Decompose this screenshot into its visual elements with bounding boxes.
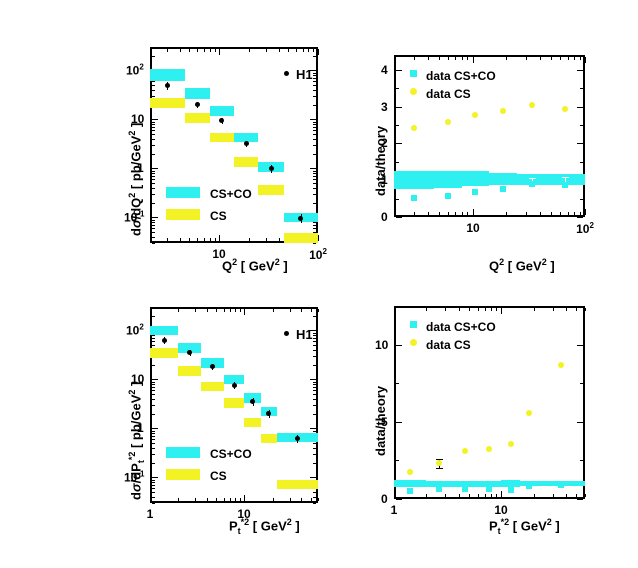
x-minor-tick bbox=[394, 491, 395, 497]
x-minor-tick bbox=[224, 309, 225, 312]
x-minor-tick bbox=[566, 308, 567, 311]
x-minor-tick bbox=[580, 57, 581, 60]
plot-frame-pt2-ratio bbox=[394, 306, 585, 499]
x-minor-tick bbox=[210, 238, 211, 241]
y-minor-tick bbox=[313, 492, 316, 493]
theory-band-cs bbox=[244, 418, 261, 428]
x-minor-tick bbox=[576, 308, 577, 311]
y-minor-tick bbox=[152, 168, 158, 169]
theory-band-csco bbox=[150, 326, 178, 335]
y-minor-tick bbox=[313, 228, 316, 229]
x-minor-tick bbox=[150, 495, 151, 501]
y-minor-tick bbox=[152, 228, 155, 229]
x-minor-tick bbox=[469, 308, 470, 311]
y-minor-tick bbox=[152, 176, 155, 177]
x-minor-tick bbox=[526, 212, 527, 215]
y-minor-tick bbox=[313, 127, 316, 128]
y-minor-tick bbox=[152, 436, 155, 437]
y-minor-tick bbox=[313, 394, 316, 395]
y-minor-tick bbox=[313, 316, 316, 317]
y-minor-tick bbox=[313, 365, 316, 366]
x-minor-tick bbox=[445, 308, 446, 311]
x-minor-tick bbox=[462, 212, 463, 215]
legend-swatch-csco bbox=[166, 187, 200, 198]
y-minor-tick bbox=[313, 171, 316, 172]
y-minor-tick bbox=[152, 130, 155, 131]
ratio-point-csco bbox=[562, 182, 568, 188]
x-minor-tick bbox=[485, 494, 486, 497]
y-minor-tick bbox=[152, 127, 155, 128]
y-minor-tick bbox=[313, 431, 316, 432]
x-minor-tick bbox=[318, 235, 319, 241]
y-minor-tick bbox=[313, 222, 316, 223]
legend-swatch-csco bbox=[166, 447, 200, 458]
x-minor-tick bbox=[526, 57, 527, 60]
theory-band-cs bbox=[258, 185, 283, 194]
y-minor-tick bbox=[313, 335, 316, 336]
y-minor-tick bbox=[310, 379, 316, 380]
x-minor-tick bbox=[496, 308, 497, 311]
y-minor-tick bbox=[313, 387, 316, 388]
x-axis-title-q2-ratio: Q2 [ GeV2 ] bbox=[489, 258, 555, 272]
x-minor-tick bbox=[473, 57, 474, 63]
y-minor-tick bbox=[152, 124, 155, 125]
y-minor-tick bbox=[313, 124, 316, 125]
legend-label-data-csco: data CS+CO bbox=[426, 321, 496, 333]
legend-label-cs: CS bbox=[210, 470, 227, 482]
y-minor-tick bbox=[152, 222, 155, 223]
theory-band-cs bbox=[224, 398, 245, 408]
x-minor-tick bbox=[313, 49, 314, 52]
y-tick-label: 1 bbox=[137, 162, 144, 174]
x-minor-tick bbox=[197, 49, 198, 52]
x-minor-tick bbox=[566, 494, 567, 497]
y-minor-tick bbox=[313, 443, 316, 444]
theory-band-cs bbox=[150, 348, 178, 358]
ratio-error-cap bbox=[562, 193, 569, 194]
x-minor-tick bbox=[230, 309, 231, 312]
y-minor-tick bbox=[152, 119, 158, 120]
y-minor-tick bbox=[152, 232, 155, 233]
y-minor-tick bbox=[152, 390, 155, 391]
y-minor-tick bbox=[152, 387, 155, 388]
ratio-point-csco bbox=[486, 486, 492, 492]
y-minor-tick bbox=[152, 81, 155, 82]
y-minor-tick bbox=[310, 428, 316, 429]
y-minor-tick bbox=[313, 454, 316, 455]
ratio-point-csco bbox=[462, 486, 468, 492]
data-point bbox=[295, 436, 300, 441]
theory-band-cs bbox=[261, 434, 277, 443]
y-tick bbox=[396, 345, 402, 346]
y-minor-tick bbox=[580, 460, 583, 461]
x-tick-label: 10 bbox=[237, 508, 250, 520]
x-minor-tick bbox=[219, 49, 220, 55]
y-tick-label: 0 bbox=[381, 211, 388, 223]
x-minor-tick bbox=[560, 57, 561, 60]
ratio-point-cs bbox=[486, 446, 492, 452]
y-minor-tick bbox=[152, 477, 158, 478]
x-minor-tick bbox=[249, 49, 250, 52]
y-minor-tick bbox=[152, 307, 155, 308]
y-minor-tick bbox=[313, 399, 316, 400]
theory-band-cs bbox=[234, 157, 259, 167]
y-tick-label: 0 bbox=[381, 493, 388, 505]
ratio-point-csco bbox=[436, 486, 442, 492]
x-minor-tick bbox=[439, 57, 440, 60]
ratio-point-csco bbox=[529, 181, 535, 187]
y-minor-tick bbox=[152, 237, 155, 238]
y-minor-tick bbox=[310, 119, 316, 120]
x-minor-tick bbox=[303, 49, 304, 52]
y-tick bbox=[396, 422, 402, 423]
x-minor-tick bbox=[491, 494, 492, 497]
y-minor-tick bbox=[152, 243, 155, 244]
y-minor-tick bbox=[152, 439, 155, 440]
y-minor-tick bbox=[152, 338, 155, 339]
y-tick bbox=[396, 70, 402, 71]
x-minor-tick bbox=[296, 49, 297, 52]
x-minor-tick bbox=[448, 212, 449, 215]
x-minor-tick bbox=[216, 309, 217, 312]
x-tick-label: 1 bbox=[147, 508, 154, 520]
x-minor-tick bbox=[219, 235, 220, 241]
x-minor-tick bbox=[414, 212, 415, 215]
x-minor-tick bbox=[311, 498, 312, 501]
ratio-uncertainty-band bbox=[489, 173, 517, 186]
ratio-error-cap bbox=[562, 177, 569, 178]
y-minor-tick bbox=[396, 199, 399, 200]
theory-band-cs bbox=[284, 233, 318, 243]
x-minor-tick bbox=[540, 212, 541, 215]
theory-band-csco bbox=[185, 88, 210, 99]
y-minor-tick bbox=[152, 345, 155, 346]
ratio-point-cs bbox=[445, 119, 451, 125]
y-minor-tick bbox=[152, 394, 155, 395]
y-minor-tick bbox=[580, 125, 583, 126]
x-minor-tick bbox=[207, 309, 208, 312]
x-minor-tick bbox=[568, 57, 569, 60]
y-tick bbox=[577, 345, 583, 346]
legend-label-data-cs: data CS bbox=[426, 339, 471, 351]
y-minor-tick bbox=[313, 179, 316, 180]
x-minor-tick bbox=[585, 494, 586, 497]
x-minor-tick bbox=[273, 309, 274, 312]
y-minor-tick bbox=[152, 448, 155, 449]
x-minor-tick bbox=[478, 308, 479, 311]
y-minor-tick bbox=[152, 194, 155, 195]
y-minor-tick bbox=[313, 183, 316, 184]
y-tick bbox=[396, 499, 402, 500]
x-minor-tick bbox=[394, 212, 395, 215]
y-tick bbox=[577, 70, 583, 71]
x-minor-tick bbox=[462, 57, 463, 60]
x-minor-tick bbox=[244, 495, 245, 501]
x-minor-tick bbox=[551, 57, 552, 60]
y-minor-tick bbox=[152, 85, 155, 86]
x-minor-tick bbox=[195, 498, 196, 501]
x-axis-title-pt2-ratio: Pt*2 [ GeV2 ] bbox=[489, 518, 560, 536]
y-minor-tick bbox=[313, 448, 316, 449]
x-minor-tick bbox=[150, 49, 151, 52]
theory-band-cs bbox=[277, 480, 318, 489]
y-minor-tick bbox=[396, 162, 399, 163]
y-minor-tick bbox=[152, 188, 155, 189]
y-minor-tick bbox=[313, 307, 316, 308]
x-minor-tick bbox=[560, 212, 561, 215]
x-minor-tick bbox=[394, 308, 395, 314]
y-tick-label: 10-1 bbox=[124, 471, 144, 484]
x-minor-tick bbox=[210, 49, 211, 52]
x-minor-tick bbox=[455, 57, 456, 60]
x-minor-tick bbox=[485, 308, 486, 311]
x-minor-tick bbox=[240, 498, 241, 501]
ratio-uncertainty-band bbox=[434, 171, 462, 187]
x-minor-tick bbox=[197, 238, 198, 241]
y-minor-tick bbox=[313, 405, 316, 406]
y-minor-tick bbox=[152, 399, 155, 400]
y-minor-tick bbox=[152, 154, 155, 155]
x-tick-label: 10 bbox=[494, 504, 507, 516]
x-tick-label: 10 bbox=[212, 248, 225, 260]
data-point bbox=[244, 141, 249, 146]
y-minor-tick bbox=[313, 145, 316, 146]
y-minor-tick bbox=[313, 338, 316, 339]
x-minor-tick bbox=[180, 49, 181, 52]
y-minor-tick bbox=[152, 503, 155, 504]
y-tick-label: 3 bbox=[381, 101, 388, 113]
y-tick-label: 1 bbox=[381, 174, 388, 186]
ratio-point-csco bbox=[407, 488, 413, 494]
y-minor-tick bbox=[313, 73, 316, 74]
x-minor-tick bbox=[574, 212, 575, 215]
legend-marker-cs bbox=[410, 339, 417, 346]
y-tick-label: 10 bbox=[375, 339, 388, 351]
y-minor-tick bbox=[310, 168, 316, 169]
ratio-point-cs bbox=[407, 469, 413, 475]
x-minor-tick bbox=[445, 494, 446, 497]
y-minor-tick bbox=[313, 90, 316, 91]
x-minor-tick bbox=[288, 49, 289, 52]
y-minor-tick bbox=[313, 173, 316, 174]
y-minor-tick bbox=[313, 154, 316, 155]
x-minor-tick bbox=[215, 238, 216, 241]
x-minor-tick bbox=[240, 309, 241, 312]
y-tick-label: 1 bbox=[137, 422, 144, 434]
theory-band-cs bbox=[178, 366, 201, 377]
x-minor-tick bbox=[167, 49, 168, 52]
x-minor-tick bbox=[553, 308, 554, 311]
y-minor-tick bbox=[152, 90, 155, 91]
x-minor-tick bbox=[204, 49, 205, 52]
y-tick bbox=[577, 107, 583, 108]
x-minor-tick bbox=[501, 308, 502, 314]
legend-label-cs: CS bbox=[210, 210, 227, 222]
y-minor-tick bbox=[152, 379, 158, 380]
y-minor-tick bbox=[313, 81, 316, 82]
y-minor-tick bbox=[310, 477, 316, 478]
y-tick-label: 102 bbox=[126, 64, 144, 77]
y-minor-tick bbox=[152, 179, 155, 180]
y-minor-tick bbox=[152, 454, 155, 455]
x-minor-tick bbox=[553, 494, 554, 497]
y-minor-tick bbox=[152, 217, 158, 218]
y-minor-tick bbox=[313, 96, 316, 97]
x-minor-tick bbox=[290, 498, 291, 501]
x-minor-tick bbox=[204, 238, 205, 241]
x-minor-tick bbox=[318, 309, 319, 312]
legend-label-csco: CS+CO bbox=[210, 448, 252, 460]
x-axis-title-q2-cross-section: Q2 [ GeV2 ] bbox=[222, 258, 288, 272]
x-minor-tick bbox=[501, 491, 502, 497]
theory-band-cs bbox=[201, 382, 223, 391]
x-minor-tick bbox=[534, 494, 535, 497]
y-minor-tick bbox=[152, 497, 155, 498]
ratio-point-csco bbox=[472, 189, 478, 195]
y-minor-tick bbox=[313, 75, 316, 76]
x-minor-tick bbox=[467, 57, 468, 60]
ratio-point-csco bbox=[526, 483, 532, 489]
legend-swatch-cs bbox=[166, 469, 200, 480]
legend-marker-csco bbox=[410, 70, 417, 77]
x-minor-tick bbox=[394, 57, 395, 60]
x-minor-tick bbox=[318, 49, 319, 55]
ratio-error-cap bbox=[500, 194, 507, 195]
y-minor-tick bbox=[152, 431, 155, 432]
x-minor-tick bbox=[180, 238, 181, 241]
y-minor-tick bbox=[396, 88, 399, 89]
y-minor-tick bbox=[396, 460, 399, 461]
experiment-marker-bottom-left bbox=[284, 331, 289, 336]
y-minor-tick bbox=[313, 188, 316, 189]
x-minor-tick bbox=[150, 309, 151, 315]
ratio-point-cs bbox=[411, 125, 417, 131]
x-minor-tick bbox=[467, 212, 468, 215]
ratio-point-cs bbox=[508, 441, 514, 447]
y-tick bbox=[396, 217, 402, 218]
y-minor-tick bbox=[152, 384, 155, 385]
legend-label-csco: CS+CO bbox=[210, 188, 252, 200]
y-minor-tick bbox=[152, 139, 155, 140]
y-tick-label: 102 bbox=[126, 324, 144, 337]
x-minor-tick bbox=[469, 494, 470, 497]
ratio-point-csco bbox=[558, 482, 564, 488]
y-minor-tick bbox=[152, 405, 155, 406]
x-minor-tick bbox=[224, 498, 225, 501]
y-minor-tick bbox=[152, 480, 155, 481]
x-minor-tick bbox=[266, 49, 267, 52]
x-minor-tick bbox=[215, 49, 216, 52]
ratio-point-csco bbox=[445, 193, 451, 199]
y-tick bbox=[577, 499, 583, 500]
y-minor-tick bbox=[313, 203, 316, 204]
x-minor-tick bbox=[273, 498, 274, 501]
y-tick bbox=[577, 143, 583, 144]
x-minor-tick bbox=[426, 308, 427, 311]
x-minor-tick bbox=[266, 238, 267, 241]
data-point bbox=[195, 102, 200, 107]
y-minor-tick bbox=[152, 220, 155, 221]
legend-label-data-cs: data CS bbox=[426, 88, 471, 100]
y-minor-tick bbox=[152, 365, 155, 366]
y-minor-tick bbox=[313, 56, 316, 57]
y-minor-tick bbox=[313, 382, 316, 383]
y-minor-tick bbox=[313, 414, 316, 415]
data-point bbox=[232, 383, 237, 388]
y-minor-tick bbox=[152, 145, 155, 146]
x-minor-tick bbox=[230, 498, 231, 501]
ratio-point-csco bbox=[508, 487, 514, 493]
y-minor-tick bbox=[152, 482, 155, 483]
y-minor-tick bbox=[152, 173, 155, 174]
x-minor-tick bbox=[478, 494, 479, 497]
y-minor-tick bbox=[313, 139, 316, 140]
theory-band-cs bbox=[150, 98, 185, 108]
y-minor-tick bbox=[310, 70, 316, 71]
y-minor-tick bbox=[310, 330, 316, 331]
y-minor-tick bbox=[313, 130, 316, 131]
y-minor-tick bbox=[152, 463, 155, 464]
x-tick-label: 10 bbox=[466, 222, 479, 234]
x-minor-tick bbox=[585, 308, 586, 311]
y-minor-tick bbox=[152, 47, 155, 48]
x-minor-tick bbox=[216, 498, 217, 501]
y-minor-tick bbox=[313, 134, 316, 135]
data-point bbox=[162, 338, 167, 343]
y-minor-tick bbox=[152, 414, 155, 415]
x-tick-label: 1 bbox=[391, 504, 398, 516]
y-minor-tick bbox=[152, 171, 155, 172]
x-tick-label: 102 bbox=[576, 222, 594, 235]
x-minor-tick bbox=[279, 238, 280, 241]
legend-marker-csco bbox=[410, 321, 417, 328]
y-minor-tick bbox=[396, 125, 399, 126]
x-minor-tick bbox=[585, 209, 586, 215]
y-minor-tick bbox=[313, 225, 316, 226]
y-minor-tick bbox=[152, 96, 155, 97]
x-minor-tick bbox=[311, 309, 312, 312]
x-minor-tick bbox=[534, 308, 535, 311]
y-minor-tick bbox=[313, 122, 316, 123]
y-minor-tick bbox=[152, 335, 155, 336]
y-minor-tick bbox=[313, 47, 316, 48]
y-minor-tick bbox=[152, 56, 155, 57]
y-tick-label: 10 bbox=[131, 373, 144, 385]
y-tick-label: 10-1 bbox=[124, 211, 144, 224]
x-minor-tick bbox=[491, 308, 492, 311]
y-minor-tick bbox=[313, 350, 316, 351]
y-minor-tick bbox=[313, 463, 316, 464]
ratio-uncertainty-band bbox=[394, 480, 426, 486]
y-minor-tick bbox=[152, 443, 155, 444]
x-minor-tick bbox=[448, 57, 449, 60]
y-minor-tick bbox=[313, 333, 316, 334]
y-minor-tick bbox=[313, 105, 316, 106]
x-minor-tick bbox=[580, 212, 581, 215]
x-minor-tick bbox=[574, 57, 575, 60]
x-minor-tick bbox=[290, 309, 291, 312]
x-minor-tick bbox=[585, 57, 586, 63]
y-minor-tick bbox=[580, 199, 583, 200]
y-tick-label: 10 bbox=[131, 113, 144, 125]
ratio-point-cs bbox=[526, 410, 532, 416]
y-tick bbox=[396, 143, 402, 144]
x-minor-tick bbox=[455, 212, 456, 215]
legend-marker-cs bbox=[410, 88, 417, 95]
legend-swatch-cs bbox=[166, 209, 200, 220]
y-tick-label: 2 bbox=[381, 137, 388, 149]
y-minor-tick bbox=[313, 341, 316, 342]
